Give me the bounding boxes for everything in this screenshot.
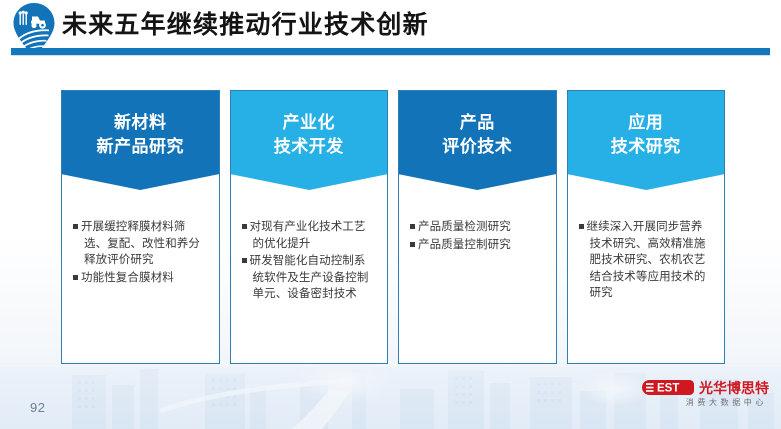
card-body: 开展缓控释膜材料筛选、复配、改性和养分释放评价研究 功能性复合膜材料 bbox=[62, 191, 219, 363]
bullet-item: 对现有产业化技术工艺的优化提升 bbox=[242, 219, 378, 252]
brand-logo: EST 光华博思特 消费大数据中心 bbox=[641, 379, 769, 408]
card-title-line2: 技术研究 bbox=[611, 135, 681, 159]
bullet-item: 继续深入开展同步营养技术研究、高效精准施肥技术研究、农机农艺结合技术等应用技术的… bbox=[579, 219, 715, 302]
card-new-materials[interactable]: 新材料 新产品研究 开展缓控释膜材料筛选、复配、改性和养分释放评价研究 功能性复… bbox=[61, 90, 220, 364]
bullet-square-icon bbox=[579, 224, 584, 229]
brand-logo-row: EST 光华博思特 bbox=[641, 379, 769, 396]
bullet-item: 研发智能化自动控制系统软件及生产设备控制单元、设备密封技术 bbox=[242, 253, 378, 303]
bullet-text: 产品质量控制研究 bbox=[418, 239, 511, 251]
best-logo-icon: EST bbox=[641, 379, 695, 396]
bullet-square-icon bbox=[73, 224, 78, 229]
card-title-line2: 技术开发 bbox=[274, 135, 344, 159]
bullet-text: 功能性复合膜材料 bbox=[81, 272, 174, 284]
card-title: 新材料 新产品研究 bbox=[97, 111, 185, 159]
card-header: 新材料 新产品研究 bbox=[62, 91, 219, 191]
slide-header: 未来五年继续推动行业技术创新 bbox=[0, 0, 781, 58]
card-title-line2: 评价技术 bbox=[442, 135, 512, 159]
card-header: 产业化 技术开发 bbox=[231, 91, 388, 191]
slide-footer: 92 EST 光华博思特 消费大数据中心 bbox=[0, 367, 781, 429]
card-header: 应用 技术研究 bbox=[568, 91, 725, 191]
header-thin-divider bbox=[11, 55, 770, 56]
bullet-text: 产品质量检测研究 bbox=[418, 221, 511, 233]
bullet-square-icon bbox=[410, 242, 415, 247]
card-title: 产业化 技术开发 bbox=[274, 111, 344, 159]
brand-name: 光华博思特 bbox=[699, 380, 769, 396]
bullet-text: 对现有产业化技术工艺的优化提升 bbox=[250, 221, 366, 250]
bullet-square-icon bbox=[410, 224, 415, 229]
bullet-item: 产品质量检测研究 bbox=[410, 219, 546, 236]
card-title-line1: 产品 bbox=[442, 111, 512, 135]
bullet-text: 研发智能化自动控制系统软件及生产设备控制单元、设备密封技术 bbox=[250, 255, 369, 300]
card-body: 继续深入开展同步营养技术研究、高效精准施肥技术研究、农机农艺结合技术等应用技术的… bbox=[568, 191, 725, 363]
card-title: 应用 技术研究 bbox=[611, 111, 681, 159]
header-accent-bar bbox=[11, 48, 770, 55]
bullet-text: 开展缓控释膜材料筛选、复配、改性和养分释放评价研究 bbox=[81, 221, 200, 266]
card-title-line1: 应用 bbox=[611, 111, 681, 135]
page-title: 未来五年继续推动行业技术创新 bbox=[62, 9, 429, 41]
bullet-square-icon bbox=[242, 224, 247, 229]
bullet-item: 开展缓控释膜材料筛选、复配、改性和养分释放评价研究 bbox=[73, 219, 209, 269]
bullet-item: 产品质量控制研究 bbox=[410, 237, 546, 254]
card-title-line2: 新产品研究 bbox=[97, 135, 185, 159]
card-body: 对现有产业化技术工艺的优化提升 研发智能化自动控制系统软件及生产设备控制单元、设… bbox=[231, 191, 388, 363]
bullet-item: 功能性复合膜材料 bbox=[73, 270, 209, 287]
card-product-evaluation[interactable]: 产品 评价技术 产品质量检测研究 产品质量控制研究 bbox=[398, 90, 557, 364]
bullet-square-icon bbox=[73, 275, 78, 280]
card-industrialization[interactable]: 产业化 技术开发 对现有产业化技术工艺的优化提升 研发智能化自动控制系统软件及生… bbox=[230, 90, 389, 364]
brand-tagline: 消费大数据中心 bbox=[686, 398, 769, 408]
svg-text:EST: EST bbox=[657, 383, 679, 395]
card-header: 产品 评价技术 bbox=[399, 91, 556, 191]
page-number: 92 bbox=[30, 400, 45, 415]
slide-canvas: 未来五年继续推动行业技术创新 新材料 新产品研究 开展缓控释膜材料筛选、复配、改… bbox=[0, 0, 781, 429]
card-row: 新材料 新产品研究 开展缓控释膜材料筛选、复配、改性和养分释放评价研究 功能性复… bbox=[61, 90, 725, 364]
card-title-line1: 产业化 bbox=[274, 111, 344, 135]
card-body: 产品质量检测研究 产品质量控制研究 bbox=[399, 191, 556, 363]
card-title-line1: 新材料 bbox=[97, 111, 185, 135]
card-application-technology[interactable]: 应用 技术研究 继续深入开展同步营养技术研究、高效精准施肥技术研究、农机农艺结合… bbox=[567, 90, 726, 364]
bullet-text: 继续深入开展同步营养技术研究、高效精准施肥技术研究、农机农艺结合技术等应用技术的… bbox=[587, 221, 706, 299]
bullet-square-icon bbox=[242, 258, 247, 263]
card-title: 产品 评价技术 bbox=[442, 111, 512, 159]
